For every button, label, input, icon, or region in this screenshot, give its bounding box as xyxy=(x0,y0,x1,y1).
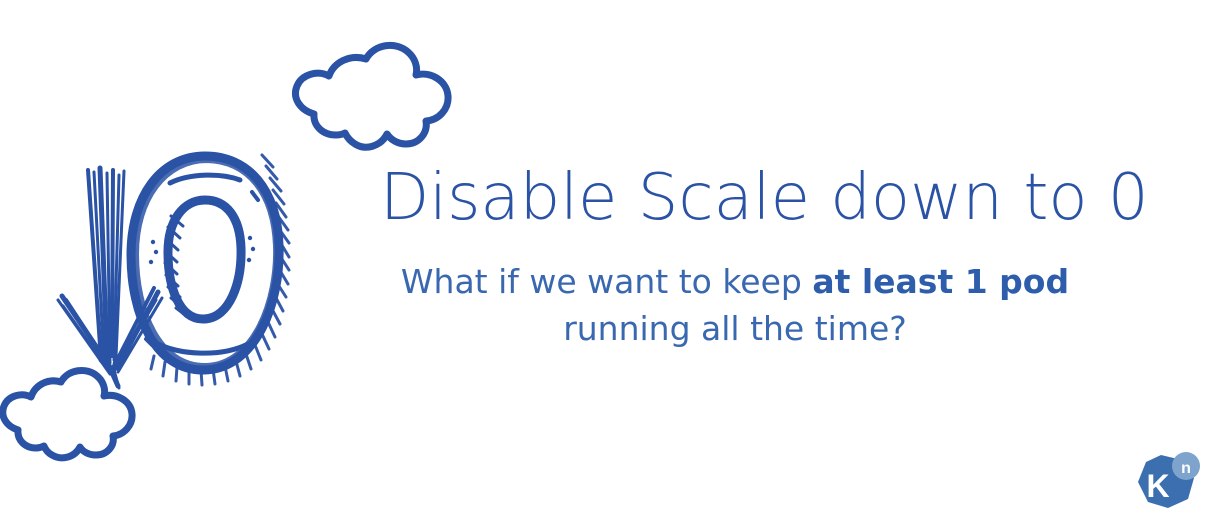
subtitle-emphasis: at least 1 pod xyxy=(812,262,1069,301)
text-block: Disable Scale down to 0 What if we want … xyxy=(380,165,1090,353)
slide-canvas: Disable Scale down to 0 What if we want … xyxy=(0,0,1212,525)
subtitle-post: running xyxy=(563,309,690,348)
subtitle-pre: What if we want to keep xyxy=(401,262,812,301)
logo-letter-n: n xyxy=(1181,460,1191,477)
zero-digit-sketch-icon xyxy=(131,155,289,385)
cloud-sketch-bottom-icon xyxy=(3,370,132,457)
page-title: Disable Scale down to 0 xyxy=(380,165,1090,233)
brand-logo-svg: K n xyxy=(1128,448,1204,518)
down-arrow-sketch-icon xyxy=(58,168,162,388)
cloud-sketch-top-icon xyxy=(296,45,449,147)
page-subtitle: What if we want to keep at least 1 pod r… xyxy=(380,259,1090,353)
subtitle-line-two: all the time? xyxy=(701,309,907,348)
logo-letter-k: K xyxy=(1146,468,1169,504)
brand-logo: K n xyxy=(1128,448,1204,518)
